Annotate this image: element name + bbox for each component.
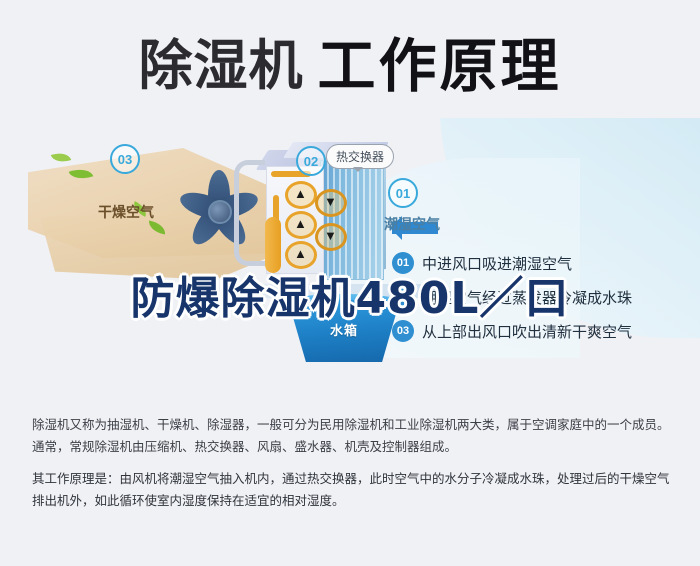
callout-label-humid-air: 潮湿空气: [384, 214, 440, 234]
description-line-1: 除湿机又称为抽湿机、干燥机、除湿器，一般可分为民用除湿机和工业除湿机两大类，属于…: [32, 418, 670, 432]
product-title-overlay: 防爆除湿机480L／口: [0, 262, 700, 326]
condenser-graphic: ▲ ▲ ▲ ▼ ▼: [266, 166, 324, 274]
callout-badge-02: 02: [296, 146, 326, 176]
header-title-primary: 除湿机: [138, 39, 303, 93]
leaf-icon: [51, 149, 72, 165]
infographic-page: 除湿机 工作原理: [0, 0, 700, 566]
header-title-secondary: 工作原理: [317, 37, 561, 95]
callout-label-heat-exchanger: 热交换器: [326, 144, 394, 169]
description-paragraph-1: 除湿机又称为抽湿机、干燥机、除湿器，一般可分为民用除湿机和工业除湿机两大类，属于…: [32, 414, 672, 458]
description-paragraph-2: 其工作原理是：由风机将潮湿空气抽入机内，通过热交换器，此时空气中的水分子冷凝成水…: [32, 468, 672, 512]
page-header: 除湿机 工作原理: [0, 26, 700, 106]
callout-label-dry-air: 干燥空气: [98, 202, 154, 222]
callout-badge-01: 01: [388, 178, 418, 208]
callout-badge-03: 03: [110, 144, 140, 174]
description-text: 除湿机又称为抽湿机、干燥机、除湿器，一般可分为民用除湿机和工业除湿机两大类，属于…: [32, 414, 672, 522]
description-line-2: 通常，常规除湿机由压缩机、热交换器、风扇、盛水器、机壳及控制器组成。: [32, 440, 457, 454]
